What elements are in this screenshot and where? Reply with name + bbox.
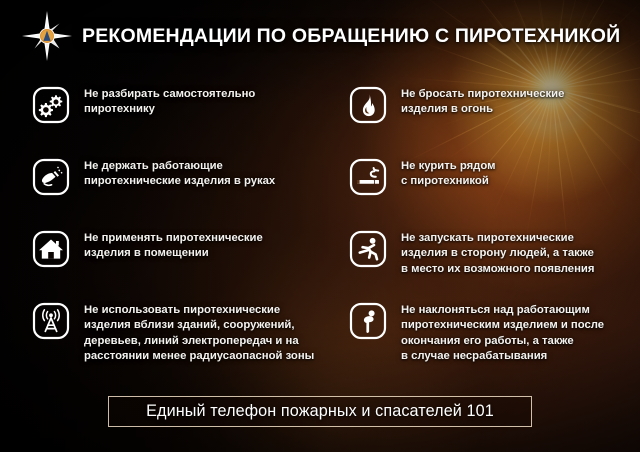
tip-line: пиротехническим изделием и после bbox=[401, 318, 604, 333]
tip-text: Не запускать пиротехнические изделия в с… bbox=[401, 228, 594, 277]
tip-line: изделия в сторону людей, а также bbox=[401, 246, 594, 261]
gears-icon bbox=[32, 86, 70, 124]
tip-line: Не применять пиротехнические bbox=[84, 231, 263, 246]
poster-header: РЕКОМЕНДАЦИИ ПО ОБРАЩЕНИЮ С ПИРОТЕХНИКОЙ bbox=[0, 0, 640, 72]
tip-text: Не наклоняться над работающим пиротехнич… bbox=[401, 300, 604, 365]
tip-line: пиротехнические изделия в руках bbox=[84, 174, 275, 189]
page-title: РЕКОМЕНДАЦИИ ПО ОБРАЩЕНИЮ С ПИРОТЕХНИКОЙ bbox=[82, 25, 620, 48]
tip-line: Не использовать пиротехнические bbox=[84, 303, 314, 318]
tip-line: Не держать работающие bbox=[84, 159, 275, 174]
tip-line: Не наклоняться над работающим bbox=[401, 303, 604, 318]
tip-do-not-use-indoors: Не применять пиротехнические изделия в п… bbox=[32, 228, 323, 300]
tip-text: Не разбирать самостоятельно пиротехнику bbox=[84, 84, 255, 118]
tip-line: деревьев, линий электропередач и на bbox=[84, 334, 314, 349]
tip-text: Не применять пиротехнические изделия в п… bbox=[84, 228, 263, 262]
emergency-phone-banner: Единый телефон пожарных и спасателей 101 bbox=[108, 396, 532, 427]
tip-do-not-hold-in-hands: Не держать работающие пиротехнические из… bbox=[32, 156, 323, 228]
tip-line: Не разбирать самостоятельно bbox=[84, 87, 255, 102]
tip-line: изделия в огонь bbox=[401, 102, 564, 117]
tip-text: Не использовать пиротехнические изделия … bbox=[84, 300, 314, 365]
tip-text: Не бросать пиротехнические изделия в ого… bbox=[401, 84, 564, 118]
tip-line: в случае несрабатывания bbox=[401, 349, 604, 364]
tip-line: Не курить рядом bbox=[401, 159, 495, 174]
tip-line: Не запускать пиротехнические bbox=[401, 231, 594, 246]
tip-line: расстоянии менее радиусаопасной зоны bbox=[84, 349, 314, 364]
tip-line: с пиротехникой bbox=[401, 174, 495, 189]
tip-line: пиротехнику bbox=[84, 102, 255, 117]
no-smoking-cigarette-icon bbox=[349, 158, 387, 196]
pyrotechnics-safety-poster: РЕКОМЕНДАЦИИ ПО ОБРАЩЕНИЮ С ПИРОТЕХНИКОЙ bbox=[0, 0, 640, 452]
tips-grid: Не разбирать самостоятельно пиротехнику bbox=[0, 84, 640, 372]
tip-do-not-aim-at-people: Не запускать пиротехнические изделия в с… bbox=[349, 228, 640, 300]
tip-do-not-disassemble: Не разбирать самостоятельно пиротехнику bbox=[32, 84, 323, 156]
tip-keep-distance-from-structures: Не использовать пиротехнические изделия … bbox=[32, 300, 323, 372]
tip-line: изделия в помещении bbox=[84, 246, 263, 261]
emergency-phone-text: Единый телефон пожарных и спасателей 101 bbox=[146, 402, 494, 421]
tip-do-not-bend-over-device: Не наклоняться над работающим пиротехнич… bbox=[349, 300, 640, 372]
hand-holding-firework-icon bbox=[32, 158, 70, 196]
radio-tower-icon bbox=[32, 302, 70, 340]
tip-text: Не держать работающие пиротехнические из… bbox=[84, 156, 275, 190]
running-person-icon bbox=[349, 230, 387, 268]
tip-line: окончания его работы, а также bbox=[401, 334, 604, 349]
tip-line: в место их возможного появления bbox=[401, 262, 594, 277]
tips-column-right: Не бросать пиротехнические изделия в ого… bbox=[323, 84, 640, 372]
tips-column-left: Не разбирать самостоятельно пиротехнику bbox=[0, 84, 323, 372]
tip-line: изделия вблизи зданий, сооружений, bbox=[84, 318, 314, 333]
tip-do-not-throw-into-fire: Не бросать пиротехнические изделия в ого… bbox=[349, 84, 640, 156]
tip-line: Не бросать пиротехнические bbox=[401, 87, 564, 102]
house-icon bbox=[32, 230, 70, 268]
bending-person-icon bbox=[349, 302, 387, 340]
tip-text: Не курить рядом с пиротехникой bbox=[401, 156, 495, 190]
tip-do-not-smoke-nearby: Не курить рядом с пиротехникой bbox=[349, 156, 640, 228]
flame-icon bbox=[349, 86, 387, 124]
emercom-star-emblem bbox=[20, 9, 74, 63]
